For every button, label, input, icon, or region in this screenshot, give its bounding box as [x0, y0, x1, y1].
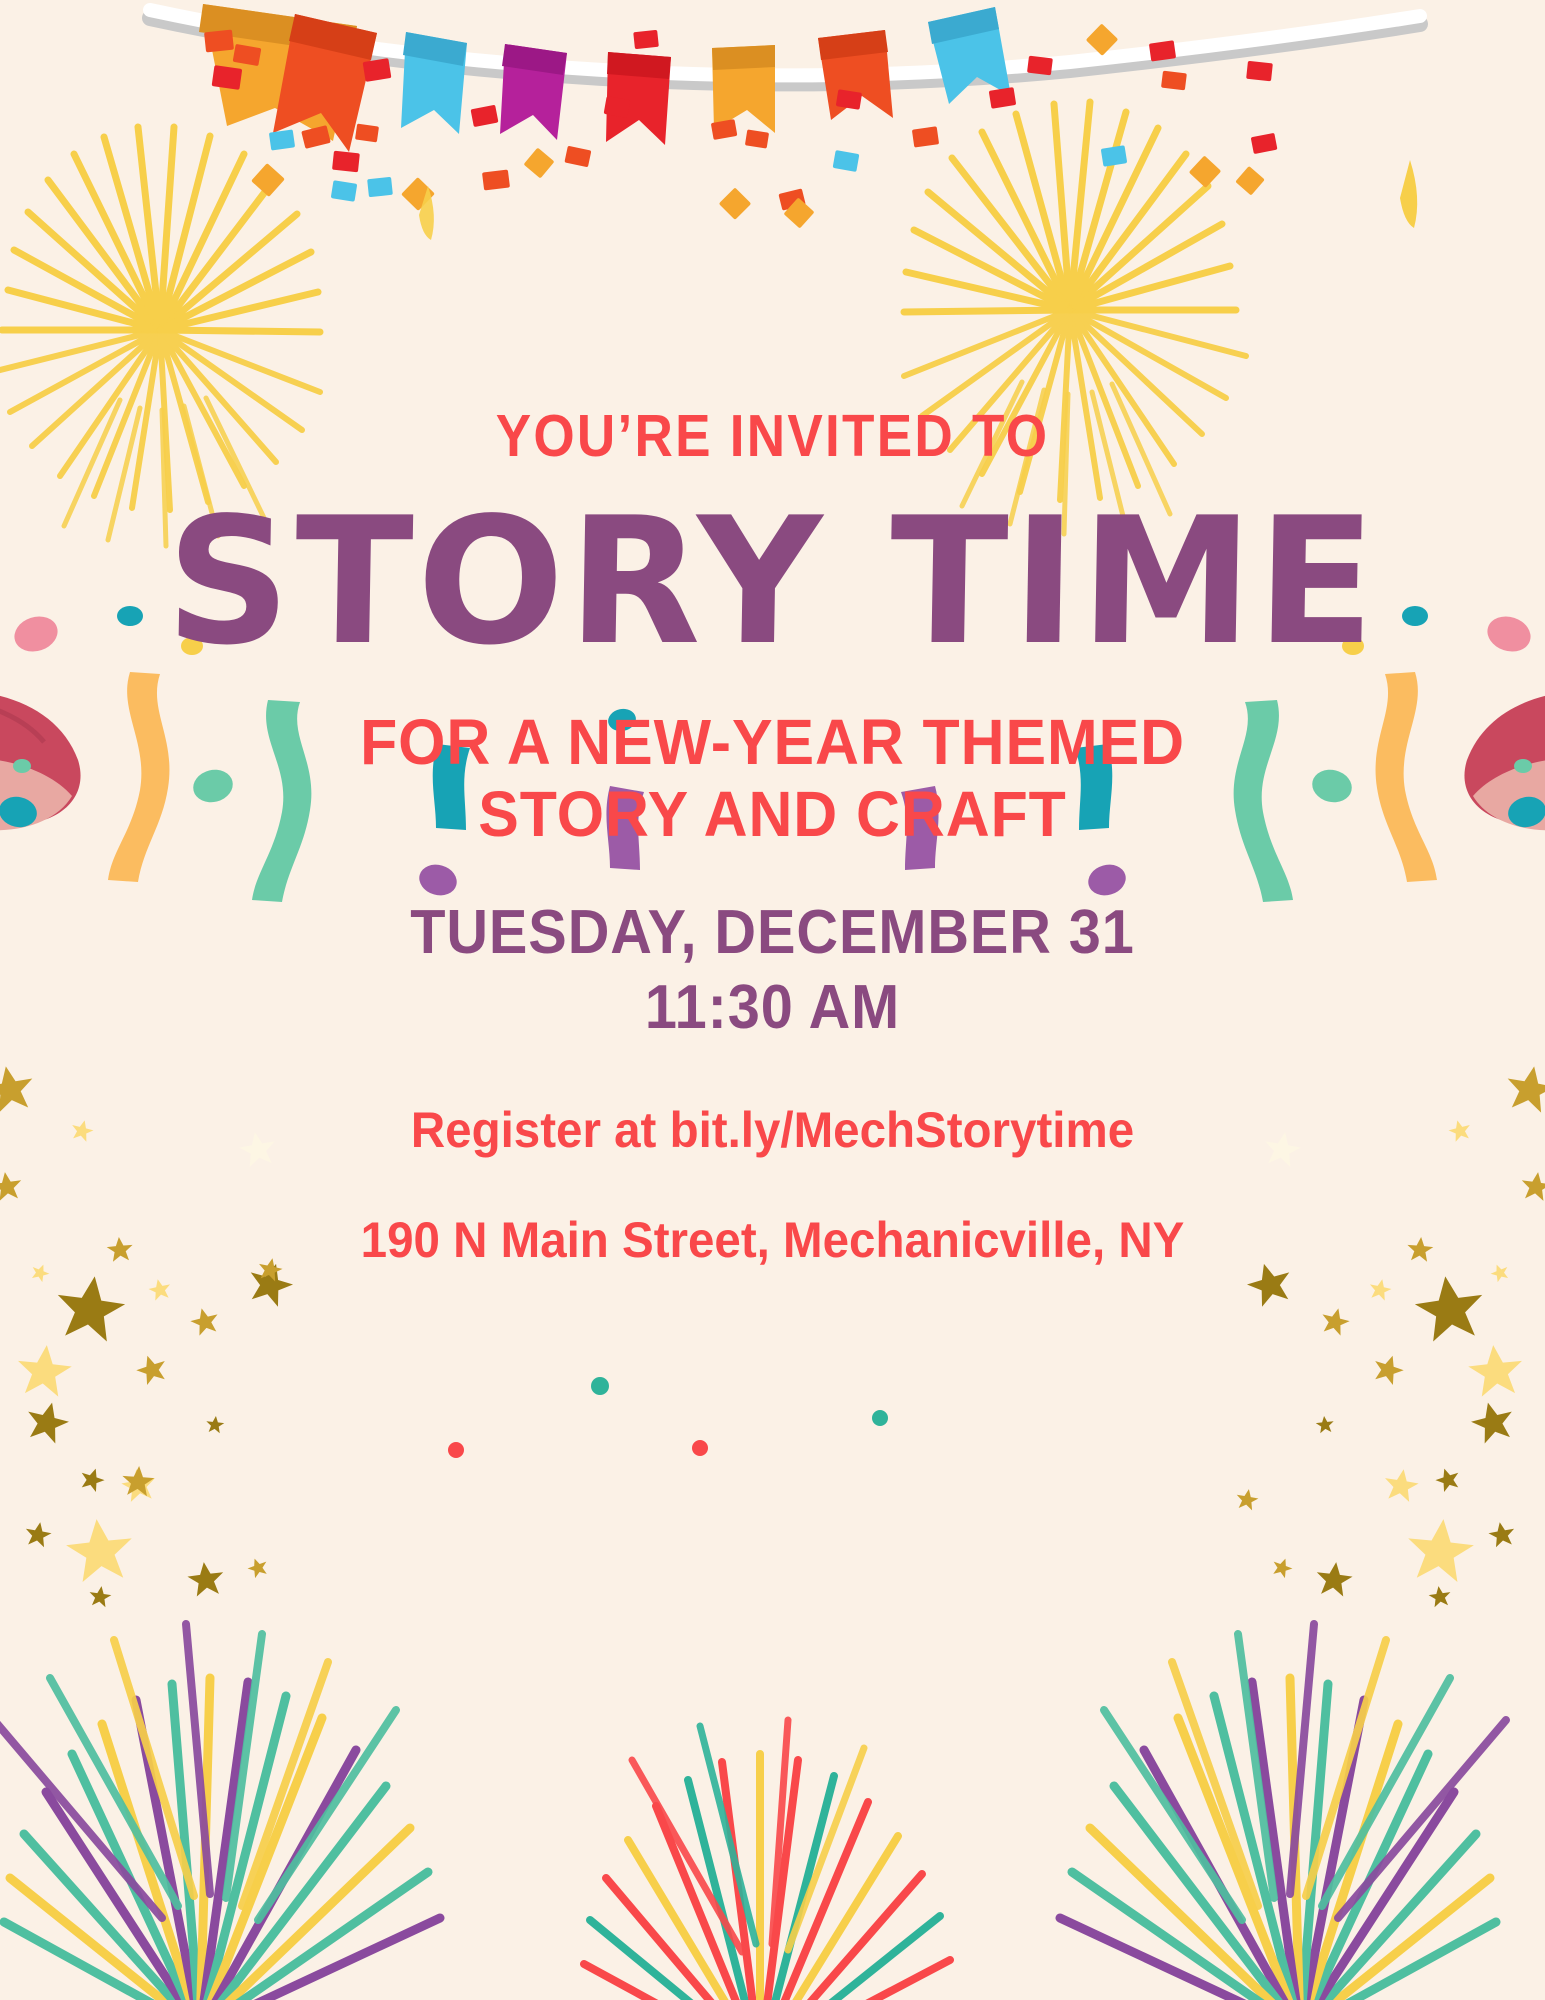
subtitle-line-2: STORY AND CRAFT: [39, 779, 1507, 851]
venue-address: 190 N Main Street, Mechanicville, NY: [39, 1215, 1507, 1265]
subtitle-block: FOR A NEW-YEAR THEMED STORY AND CRAFT: [39, 707, 1507, 850]
page-title: STORY TIME: [6, 502, 1538, 663]
eyebrow-text: YOU’RE INVITED TO: [77, 407, 1468, 466]
subtitle-line-1: FOR A NEW-YEAR THEMED: [360, 706, 1185, 778]
datetime-block: TUESDAY, DECEMBER 31 11:30 AM: [54, 896, 1491, 1045]
flyer-text-content: YOU’RE INVITED TO STORY TIME FOR A NEW-Y…: [0, 0, 1545, 2000]
event-date: TUESDAY, DECEMBER 31: [410, 898, 1135, 967]
flyer-poster: YOU’RE INVITED TO STORY TIME FOR A NEW-Y…: [0, 0, 1545, 2000]
event-time: 11:30 AM: [54, 971, 1491, 1045]
registration-link[interactable]: Register at bit.ly/MechStorytime: [39, 1105, 1507, 1155]
